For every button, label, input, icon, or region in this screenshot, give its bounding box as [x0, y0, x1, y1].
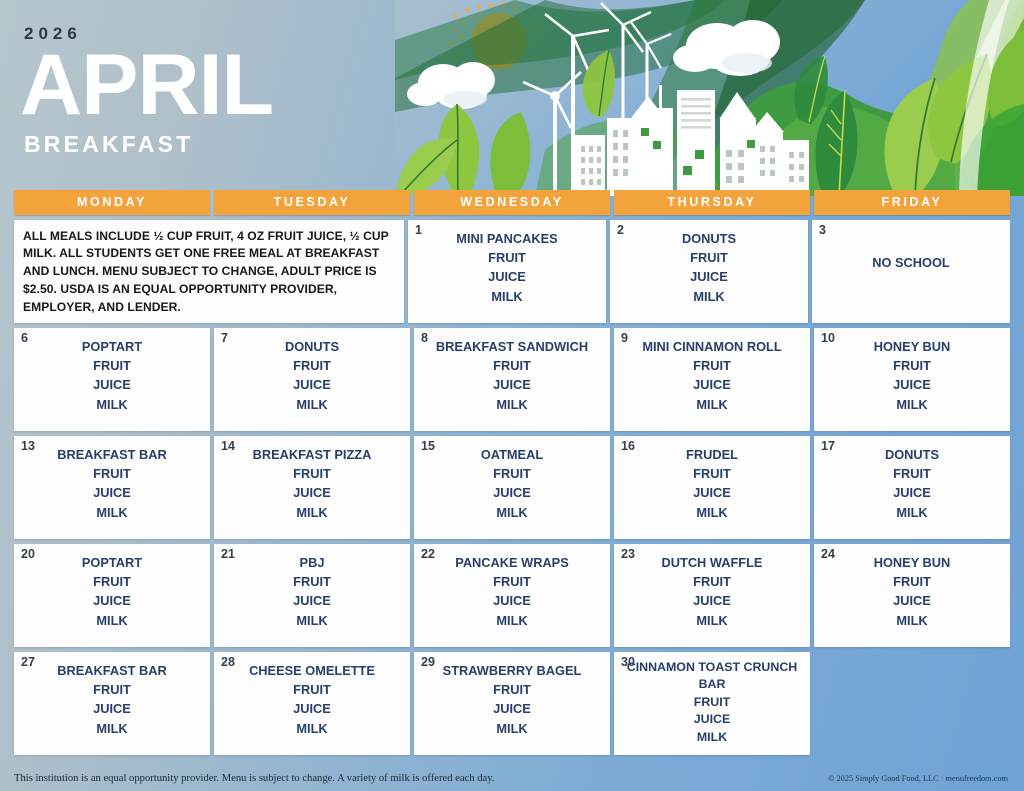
meal-type: BREAKFAST	[24, 131, 400, 158]
day-number: 28	[221, 656, 235, 669]
day-number: 20	[21, 548, 35, 561]
menu-items: CINNAMON TOAST CRUNCH BAR FRUIT JUICE MI…	[620, 657, 804, 747]
day-cell[interactable]: 1 MINI PANCAKES FRUIT JUICE MILK	[408, 220, 606, 323]
menu-side: FRUIT	[620, 464, 804, 483]
day-cell-empty	[814, 652, 1010, 755]
menu-note-text: ALL MEALS INCLUDE ½ CUP FRUIT, 4 OZ FRUI…	[23, 228, 395, 317]
menu-entree: PBJ	[220, 553, 404, 572]
footer-copyright: © 2025 Simply Good Food, LLC · menufreed…	[828, 774, 1008, 783]
menu-side: FRUIT	[20, 680, 204, 699]
menu-entree: DUTCH WAFFLE	[620, 553, 804, 572]
menu-items: STRAWBERRY BAGEL FRUIT JUICE MILK	[420, 657, 604, 739]
menu-side: JUICE	[820, 483, 1004, 502]
menu-side: JUICE	[620, 711, 804, 729]
weekday-header-friday: FRIDAY	[814, 190, 1010, 215]
calendar-page: 2026 APRIL BREAKFAST MONDAY TUESDAY WEDN…	[0, 0, 1024, 791]
menu-items: HONEY BUN FRUIT JUICE MILK	[820, 333, 1004, 415]
calendar-grid: MONDAY TUESDAY WEDNESDAY THURSDAY FRIDAY…	[14, 190, 1010, 760]
calendar-week-row: ALL MEALS INCLUDE ½ CUP FRUIT, 4 OZ FRUI…	[14, 220, 1010, 323]
menu-side: FRUIT	[420, 572, 604, 591]
day-number: 7	[221, 332, 228, 345]
day-number: 2	[617, 224, 624, 237]
day-number: 30	[621, 656, 635, 669]
menu-side: FRUIT	[20, 356, 204, 375]
day-number: 10	[821, 332, 835, 345]
menu-items: DONUTS FRUIT JUICE MILK	[220, 333, 404, 415]
menu-items: CHEESE OMELETTE FRUIT JUICE MILK	[220, 657, 404, 739]
menu-entree: CHEESE OMELETTE	[220, 661, 404, 680]
day-cell[interactable]: 23 DUTCH WAFFLE FRUIT JUICE MILK	[614, 544, 810, 647]
menu-entree: BREAKFAST PIZZA	[220, 445, 404, 464]
menu-items: HONEY BUN FRUIT JUICE MILK	[820, 549, 1004, 631]
day-number: 14	[221, 440, 235, 453]
page-footer: This institution is an equal opportunity…	[0, 765, 1024, 791]
day-cell[interactable]: 9 MINI CINNAMON ROLL FRUIT JUICE MILK	[614, 328, 810, 431]
day-number: 3	[819, 224, 826, 237]
menu-side: FRUIT	[820, 572, 1004, 591]
menu-side: MILK	[616, 287, 802, 306]
menu-side: MILK	[620, 729, 804, 747]
menu-side: MILK	[820, 395, 1004, 414]
menu-side: JUICE	[620, 483, 804, 502]
menu-side: JUICE	[20, 483, 204, 502]
weekday-header-wednesday: WEDNESDAY	[414, 190, 610, 215]
menu-side: MILK	[420, 719, 604, 738]
menu-side: FRUIT	[616, 248, 802, 267]
menu-side: FRUIT	[414, 248, 600, 267]
menu-side: MILK	[20, 503, 204, 522]
day-number: 6	[21, 332, 28, 345]
day-cell[interactable]: 8 BREAKFAST SANDWICH FRUIT JUICE MILK	[414, 328, 610, 431]
menu-items: BREAKFAST SANDWICH FRUIT JUICE MILK	[420, 333, 604, 415]
day-number: 8	[421, 332, 428, 345]
no-school-label: NO SCHOOL	[818, 253, 1004, 272]
day-number: 17	[821, 440, 835, 453]
menu-side: JUICE	[220, 591, 404, 610]
menu-entree: BREAKFAST SANDWICH	[420, 337, 604, 356]
calendar-week-row: 27 BREAKFAST BAR FRUIT JUICE MILK 28 CHE…	[14, 652, 1010, 755]
day-number: 29	[421, 656, 435, 669]
menu-side: MILK	[620, 395, 804, 414]
day-cell[interactable]: 24 HONEY BUN FRUIT JUICE MILK	[814, 544, 1010, 647]
menu-entree: POPTART	[20, 337, 204, 356]
day-number: 22	[421, 548, 435, 561]
menu-entree: MINI CINNAMON ROLL	[620, 337, 804, 356]
menu-entree: FRUDEL	[620, 445, 804, 464]
day-cell[interactable]: 2 DONUTS FRUIT JUICE MILK	[610, 220, 808, 323]
day-cell[interactable]: 7 DONUTS FRUIT JUICE MILK	[214, 328, 410, 431]
day-number: 13	[21, 440, 35, 453]
menu-side: MILK	[220, 395, 404, 414]
eco-city-illustration	[395, 0, 1024, 196]
menu-side: FRUIT	[220, 464, 404, 483]
menu-side: MILK	[220, 719, 404, 738]
day-cell[interactable]: 17 DONUTS FRUIT JUICE MILK	[814, 436, 1010, 539]
menu-items: MINI CINNAMON ROLL FRUIT JUICE MILK	[620, 333, 804, 415]
menu-side: JUICE	[616, 267, 802, 286]
menu-side: JUICE	[20, 375, 204, 394]
calendar-week-row: 13 BREAKFAST BAR FRUIT JUICE MILK 14 BRE…	[14, 436, 1010, 539]
weekday-header-monday: MONDAY	[14, 190, 210, 215]
day-number: 24	[821, 548, 835, 561]
menu-side: JUICE	[20, 591, 204, 610]
menu-side: FRUIT	[820, 464, 1004, 483]
menu-side: JUICE	[414, 267, 600, 286]
menu-entree: DONUTS	[220, 337, 404, 356]
menu-side: JUICE	[20, 699, 204, 718]
menu-side: JUICE	[220, 375, 404, 394]
menu-items: POPTART FRUIT JUICE MILK	[20, 333, 204, 415]
menu-entree: CINNAMON TOAST CRUNCH BAR	[620, 659, 804, 694]
menu-side: FRUIT	[420, 356, 604, 375]
menu-side: JUICE	[820, 375, 1004, 394]
day-cell[interactable]: 13 BREAKFAST BAR FRUIT JUICE MILK	[14, 436, 210, 539]
day-number: 9	[621, 332, 628, 345]
day-number: 15	[421, 440, 435, 453]
menu-side: JUICE	[220, 699, 404, 718]
day-cell[interactable]: 21 PBJ FRUIT JUICE MILK	[214, 544, 410, 647]
menu-items: OATMEAL FRUIT JUICE MILK	[420, 441, 604, 523]
footer-disclaimer: This institution is an equal opportunity…	[14, 773, 494, 784]
menu-side: MILK	[220, 611, 404, 630]
menu-side: JUICE	[420, 591, 604, 610]
menu-side: FRUIT	[220, 356, 404, 375]
menu-side: FRUIT	[20, 572, 204, 591]
day-cell[interactable]: 14 BREAKFAST PIZZA FRUIT JUICE MILK	[214, 436, 410, 539]
menu-items: PBJ FRUIT JUICE MILK	[220, 549, 404, 631]
menu-side: MILK	[414, 287, 600, 306]
calendar-month: APRIL	[20, 46, 400, 125]
day-cell[interactable]: 30 CINNAMON TOAST CRUNCH BAR FRUIT JUICE…	[614, 652, 810, 755]
day-cell[interactable]: 29 STRAWBERRY BAGEL FRUIT JUICE MILK	[414, 652, 610, 755]
menu-side: JUICE	[620, 375, 804, 394]
menu-items: DUTCH WAFFLE FRUIT JUICE MILK	[620, 549, 804, 631]
day-cell[interactable]: 16 FRUDEL FRUIT JUICE MILK	[614, 436, 810, 539]
weekday-header-row: MONDAY TUESDAY WEDNESDAY THURSDAY FRIDAY	[14, 190, 1010, 215]
menu-side: FRUIT	[620, 694, 804, 712]
menu-entree: DONUTS	[820, 445, 1004, 464]
menu-side: JUICE	[420, 375, 604, 394]
weekday-header-thursday: THURSDAY	[614, 190, 810, 215]
menu-side: MILK	[420, 395, 604, 414]
menu-items: PANCAKE WRAPS FRUIT JUICE MILK	[420, 549, 604, 631]
calendar-week-row: 6 POPTART FRUIT JUICE MILK 7 DONUTS FRUI…	[14, 328, 1010, 431]
day-cell[interactable]: 27 BREAKFAST BAR FRUIT JUICE MILK	[14, 652, 210, 755]
menu-side: JUICE	[820, 591, 1004, 610]
day-number: 21	[221, 548, 235, 561]
menu-side: MILK	[620, 503, 804, 522]
menu-side: FRUIT	[220, 680, 404, 699]
menu-items: DONUTS FRUIT JUICE MILK	[616, 225, 802, 307]
menu-entree: MINI PANCAKES	[414, 229, 600, 248]
menu-side: JUICE	[420, 483, 604, 502]
day-cell[interactable]: 20 POPTART FRUIT JUICE MILK	[14, 544, 210, 647]
menu-side: JUICE	[420, 699, 604, 718]
menu-side: MILK	[620, 611, 804, 630]
menu-side: MILK	[20, 719, 204, 738]
menu-entree: BREAKFAST BAR	[20, 445, 204, 464]
menu-items: DONUTS FRUIT JUICE MILK	[820, 441, 1004, 523]
menu-items: FRUDEL FRUIT JUICE MILK	[620, 441, 804, 523]
day-number: 27	[21, 656, 35, 669]
menu-entree: OATMEAL	[420, 445, 604, 464]
menu-side: JUICE	[620, 591, 804, 610]
menu-side: MILK	[220, 503, 404, 522]
day-cell[interactable]: 10 HONEY BUN FRUIT JUICE MILK	[814, 328, 1010, 431]
menu-entree: STRAWBERRY BAGEL	[420, 661, 604, 680]
menu-side: MILK	[420, 503, 604, 522]
menu-side: MILK	[820, 503, 1004, 522]
menu-side: MILK	[820, 611, 1004, 630]
menu-note-cell: ALL MEALS INCLUDE ½ CUP FRUIT, 4 OZ FRUI…	[14, 220, 404, 323]
day-number: 1	[415, 224, 422, 237]
menu-entree: PANCAKE WRAPS	[420, 553, 604, 572]
menu-side: FRUIT	[620, 572, 804, 591]
menu-side: FRUIT	[220, 572, 404, 591]
menu-items: NO SCHOOL	[818, 225, 1004, 272]
day-cell[interactable]: 28 CHEESE OMELETTE FRUIT JUICE MILK	[214, 652, 410, 755]
menu-entree: HONEY BUN	[820, 337, 1004, 356]
day-cell[interactable]: 6 POPTART FRUIT JUICE MILK	[14, 328, 210, 431]
title-block: 2026 APRIL BREAKFAST	[20, 24, 400, 158]
menu-side: FRUIT	[20, 464, 204, 483]
menu-entree: HONEY BUN	[820, 553, 1004, 572]
calendar-week-row: 20 POPTART FRUIT JUICE MILK 21 PBJ FRUIT…	[14, 544, 1010, 647]
menu-items: BREAKFAST BAR FRUIT JUICE MILK	[20, 441, 204, 523]
menu-side: JUICE	[220, 483, 404, 502]
menu-entree: POPTART	[20, 553, 204, 572]
day-cell[interactable]: 3 NO SCHOOL	[812, 220, 1010, 323]
menu-entree: BREAKFAST BAR	[20, 661, 204, 680]
day-cell[interactable]: 22 PANCAKE WRAPS FRUIT JUICE MILK	[414, 544, 610, 647]
menu-side: MILK	[420, 611, 604, 630]
menu-side: FRUIT	[420, 680, 604, 699]
menu-side: FRUIT	[620, 356, 804, 375]
menu-items: BREAKFAST BAR FRUIT JUICE MILK	[20, 657, 204, 739]
menu-side: FRUIT	[820, 356, 1004, 375]
menu-entree: DONUTS	[616, 229, 802, 248]
day-number: 23	[621, 548, 635, 561]
menu-side: MILK	[20, 611, 204, 630]
menu-items: BREAKFAST PIZZA FRUIT JUICE MILK	[220, 441, 404, 523]
weekday-header-tuesday: TUESDAY	[214, 190, 410, 215]
day-cell[interactable]: 15 OATMEAL FRUIT JUICE MILK	[414, 436, 610, 539]
day-number: 16	[621, 440, 635, 453]
menu-items: POPTART FRUIT JUICE MILK	[20, 549, 204, 631]
menu-side: FRUIT	[420, 464, 604, 483]
menu-side: MILK	[20, 395, 204, 414]
menu-items: MINI PANCAKES FRUIT JUICE MILK	[414, 225, 600, 307]
